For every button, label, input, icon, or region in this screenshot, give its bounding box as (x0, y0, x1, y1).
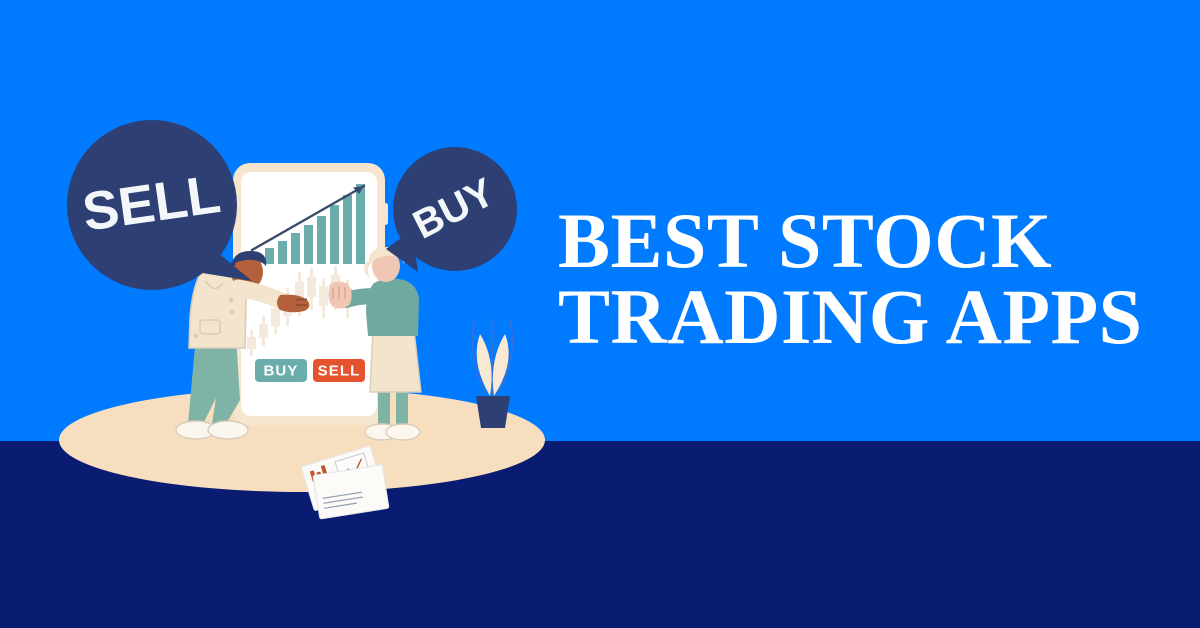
poster-canvas: BEST STOCK TRADING APPS (0, 0, 1200, 628)
page-title-line-2: TRADING APPS (558, 279, 1178, 355)
phone-sell-button[interactable]: SELL (313, 359, 365, 382)
buy-speech-bubble: BUY (386, 147, 517, 272)
potted-plant (473, 318, 513, 428)
svg-text:SELL: SELL (318, 362, 361, 379)
page-title-line-1: BEST STOCK (558, 203, 1178, 279)
page-title: BEST STOCK TRADING APPS (558, 203, 1178, 356)
phone-buy-button[interactable]: BUY (255, 359, 307, 382)
svg-text:BUY: BUY (264, 362, 299, 379)
illustration: BUY SELL (0, 0, 600, 628)
shoe-right-front (386, 424, 420, 440)
sell-speech-bubble: SELL (67, 120, 252, 290)
shoe-left-front (208, 421, 248, 439)
